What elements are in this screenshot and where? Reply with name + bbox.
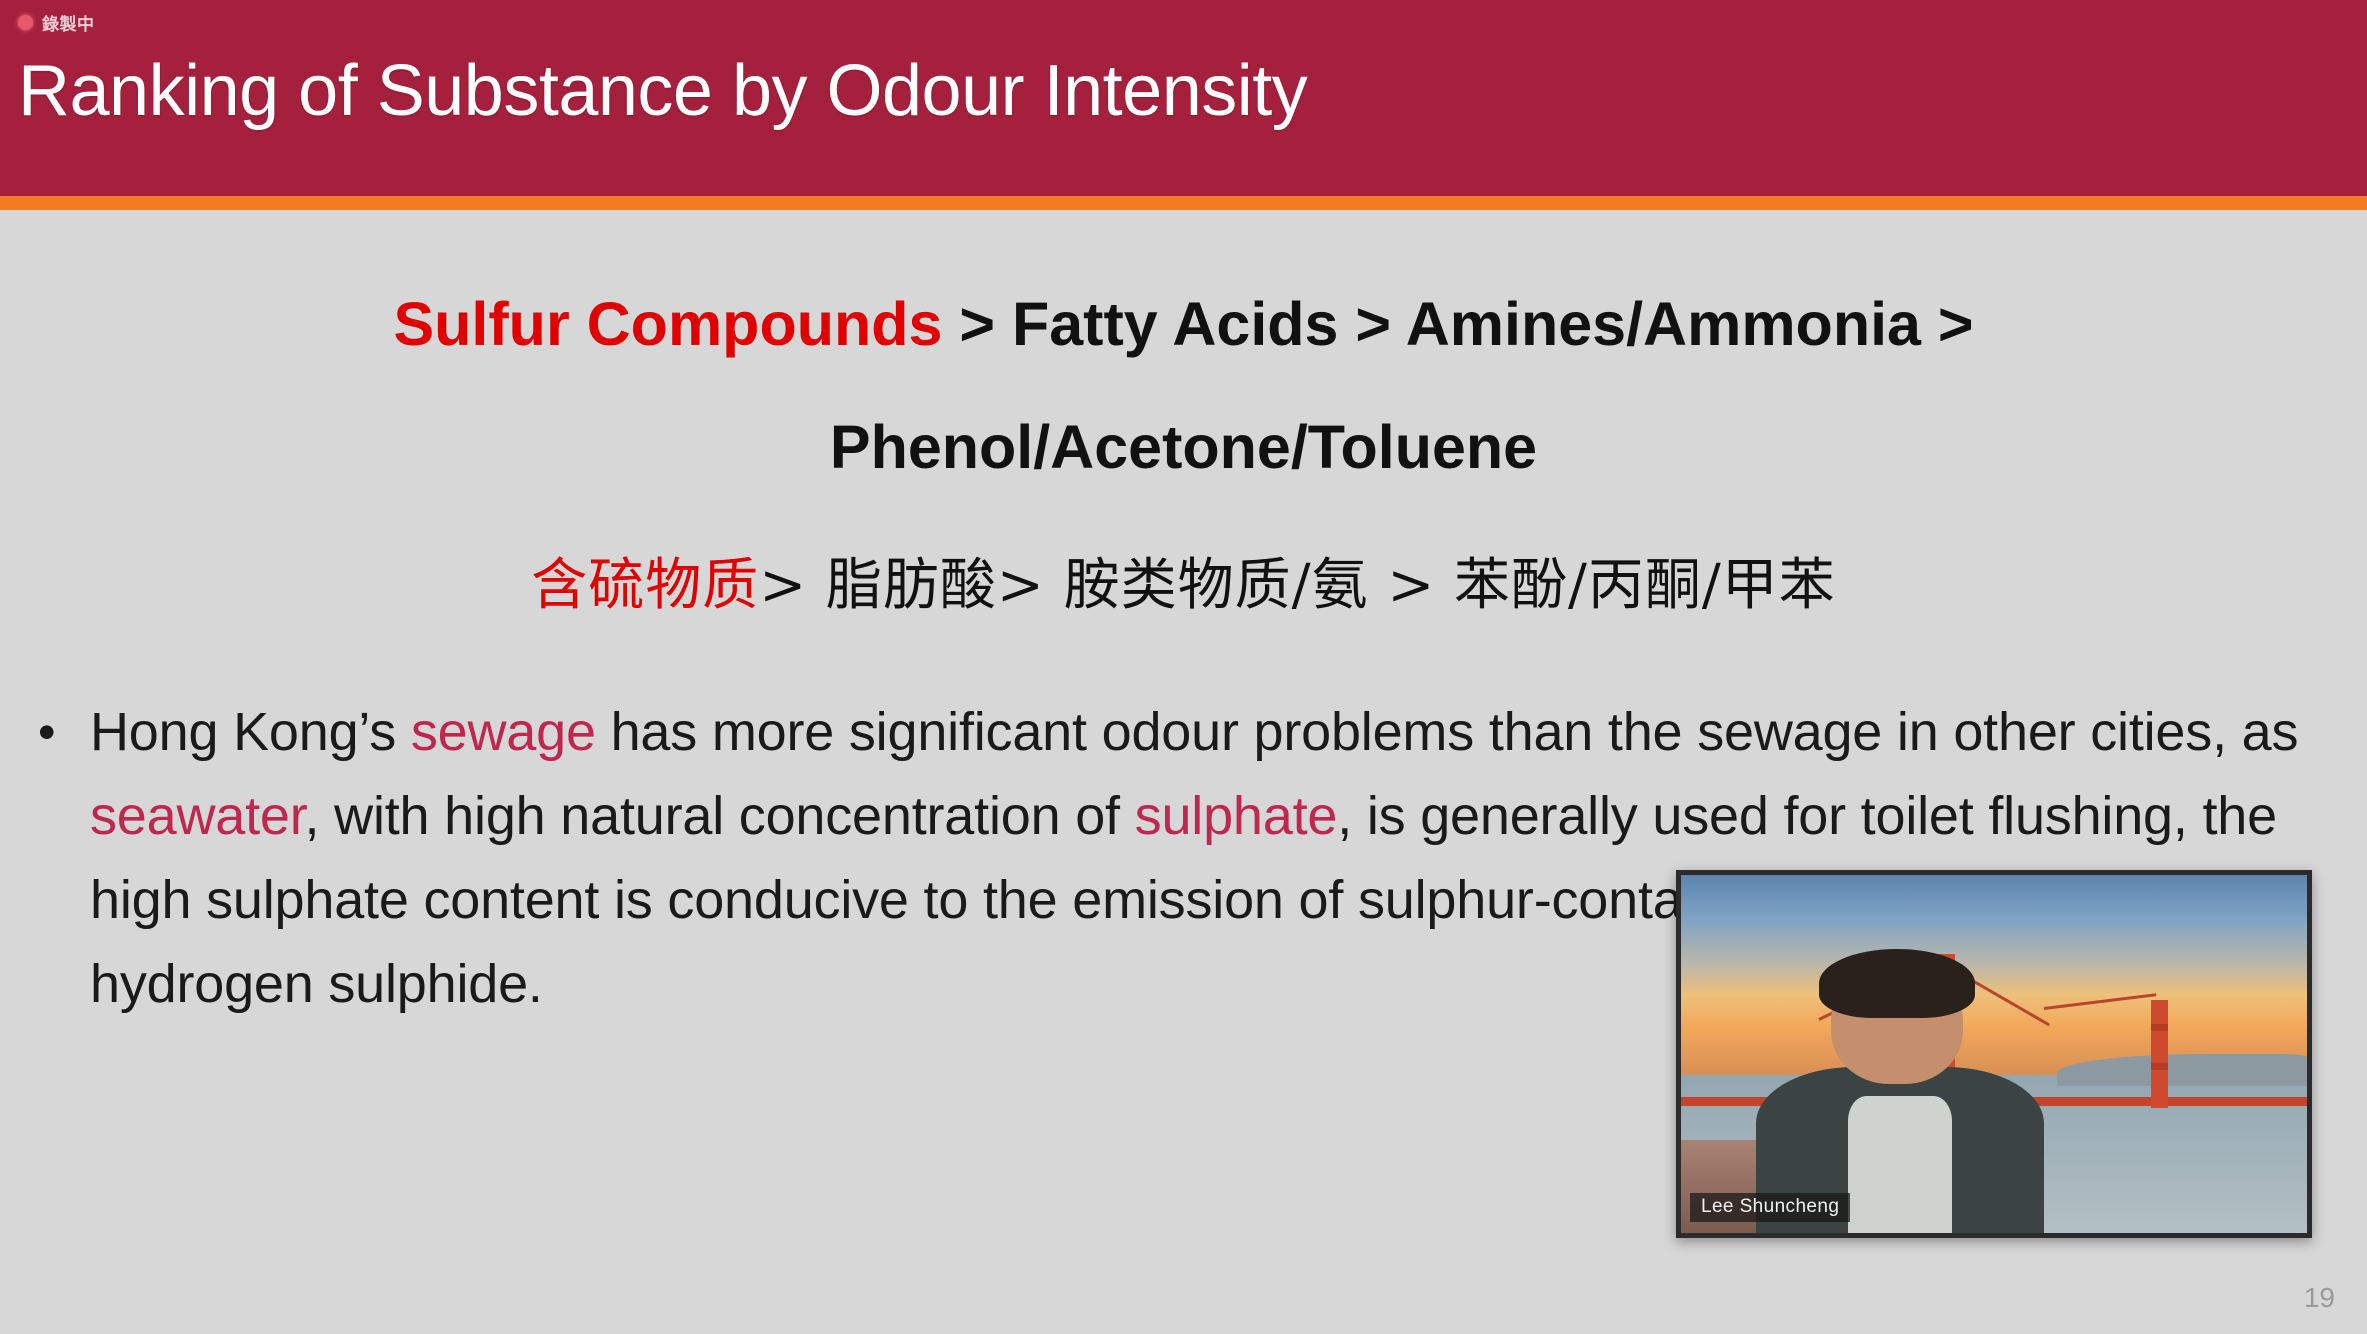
ranking-highlight-sulfur-compounds: Sulfur Compounds	[393, 290, 942, 358]
header-accent-stripe	[0, 196, 2367, 210]
ranking-line-chinese: 含硫物质> 脂肪酸> 胺类物质/氨 > 苯酚/丙酮/甲苯	[0, 540, 2367, 621]
ranking-rest-chinese: > 脂肪酸> 胺类物质/氨 > 苯酚/丙酮/甲苯	[759, 553, 1836, 618]
bullet-seg-4: , with high natural concentration of	[305, 786, 1135, 846]
ranking-line-english-2: Phenol/Acetone/Toluene	[0, 415, 2367, 479]
participant-name-label: Lee Shuncheng	[1690, 1193, 1850, 1222]
bullet-highlight-sewage: sewage	[411, 702, 596, 762]
webcam-overlay[interactable]: Lee Shuncheng	[1676, 870, 2312, 1238]
recording-indicator[interactable]: 錄製中	[18, 10, 95, 35]
page-number: 19	[2304, 1282, 2335, 1314]
webcam-video-frame	[1681, 875, 2307, 1233]
ranking-line-english-1: Sulfur Compounds > Fatty Acids > Amines/…	[0, 292, 2367, 356]
bridge-tower-icon	[2151, 1000, 2168, 1107]
bullet-marker-icon: •	[38, 690, 90, 1026]
bullet-seg-0: Hong Kong’s	[90, 702, 411, 762]
page-title: Ranking of Substance by Odour Intensity	[18, 50, 1307, 132]
bullet-highlight-seawater: seawater	[90, 786, 305, 846]
recording-dot-icon	[18, 15, 33, 30]
recording-label: 錄製中	[42, 10, 95, 35]
ranking-rest-english-1: > Fatty Acids > Amines/Ammonia >	[942, 290, 1973, 358]
participant-shirt	[1848, 1096, 1952, 1233]
bullet-seg-2: has more significant odour problems than…	[596, 702, 2299, 762]
participant-hair	[1819, 949, 1974, 1018]
participant-figure	[1756, 947, 2044, 1233]
bullet-highlight-sulphate: sulphate	[1135, 786, 1338, 846]
ranking-highlight-chinese: 含硫物质	[531, 553, 759, 618]
